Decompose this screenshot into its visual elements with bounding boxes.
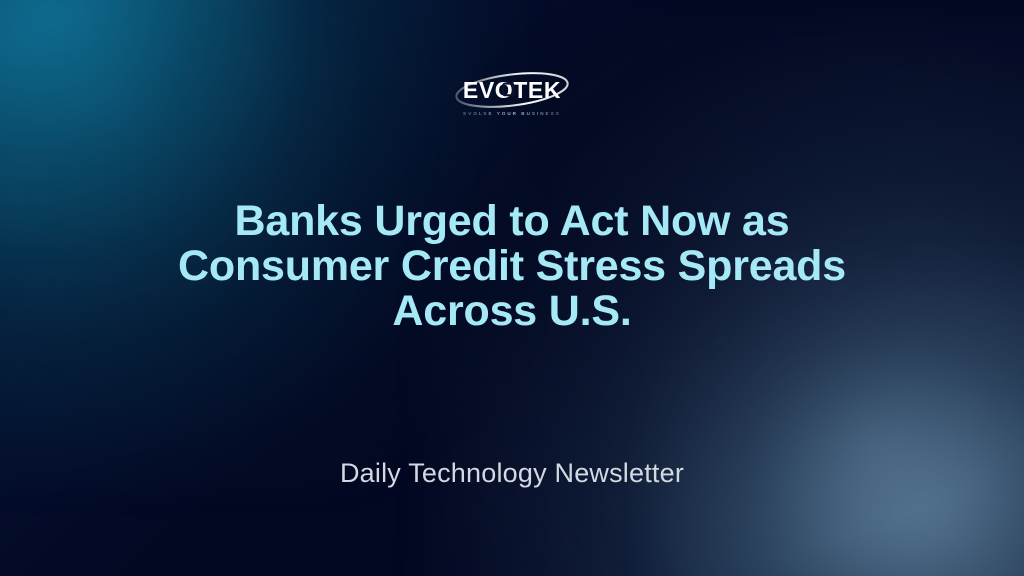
headline-line-2: Consumer Credit Stress Spreads <box>162 244 862 289</box>
headline-line-1: Banks Urged to Act Now as <box>162 199 862 244</box>
logo-wordmark: EVOTEK <box>463 77 561 103</box>
slide-content: EVOTEK EVOLVE YOUR BUSINESS Banks Urged … <box>0 0 1024 576</box>
logo-tagline: EVOLVE YOUR BUSINESS <box>463 111 561 116</box>
evotek-logo: EVOTEK EVOLVE YOUR BUSINESS <box>437 66 587 124</box>
subtitle: Daily Technology Newsletter <box>340 458 684 489</box>
headline-line-3: Across U.S. <box>162 289 862 334</box>
page-title: Banks Urged to Act Now as Consumer Credi… <box>162 199 862 334</box>
evotek-logo-svg: EVOTEK EVOLVE YOUR BUSINESS <box>437 66 587 124</box>
title-slide: EVOTEK EVOLVE YOUR BUSINESS Banks Urged … <box>0 0 1024 576</box>
